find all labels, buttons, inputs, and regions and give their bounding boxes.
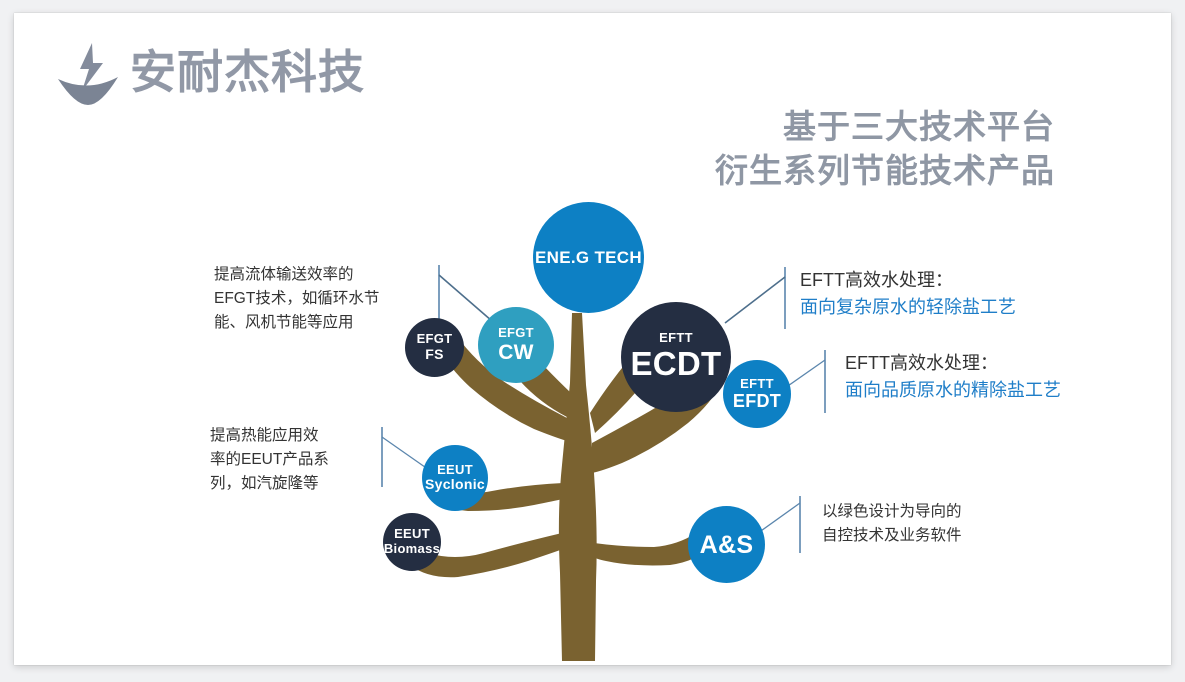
- tech-node-efdt[interactable]: EFTTEFDT: [723, 360, 791, 428]
- tech-node-label: A&S: [700, 531, 754, 559]
- eftt-callout-1-line2: 面向复杂原水的轻除盐工艺: [800, 294, 1016, 321]
- tech-node-sublabel: EFTT: [659, 331, 693, 346]
- eftt-callout-1-line1: EFTT高效水处理：: [800, 267, 1016, 294]
- tech-node-sublabel: EFGT: [498, 326, 534, 341]
- efgt-callout: 提高流体输送效率的 EFGT技术，如循环水节 能、风机节能等应用: [214, 263, 429, 335]
- tech-node-biomass[interactable]: EEUTBiomass: [383, 513, 441, 571]
- tech-node-eneg[interactable]: ENE.G TECH: [533, 202, 644, 313]
- tech-node-label: EFDT: [733, 391, 781, 411]
- eftt-callout-2: EFTT高效水处理：面向品质原水的精除盐工艺: [845, 350, 1061, 404]
- eftt-callout-2-line1: EFTT高效水处理：: [845, 350, 1061, 377]
- as-callout: 以绿色设计为导向的 自控技术及业务软件: [822, 500, 1012, 548]
- tech-node-as[interactable]: A&S: [688, 506, 765, 583]
- slide-canvas: 安耐杰科技 基于三大技术平台 衍生系列节能技术产品: [14, 13, 1171, 665]
- tech-node-label: FS: [425, 347, 444, 363]
- tech-node-sublabel: EEUT: [394, 527, 430, 542]
- tech-node-sublabel: EEUT: [437, 463, 473, 478]
- technology-tree-graphic: [14, 13, 1171, 665]
- tech-node-label: ENE.G TECH: [535, 248, 642, 267]
- tech-node-ecdt[interactable]: EFTTECDT: [621, 302, 731, 412]
- tech-node-syclonic[interactable]: EEUTSyclonic: [422, 445, 488, 511]
- tech-node-sublabel: EFTT: [740, 377, 774, 392]
- eftt-callout-1: EFTT高效水处理：面向复杂原水的轻除盐工艺: [800, 267, 1016, 321]
- tech-node-label: ECDT: [630, 346, 721, 383]
- tech-node-label: Biomass: [384, 542, 440, 557]
- eeut-callout: 提高热能应用效 率的EEUT产品系 列，如汽旋隆等: [210, 424, 370, 496]
- eftt-callout-2-line2: 面向品质原水的精除盐工艺: [845, 377, 1061, 404]
- tech-node-label: Syclonic: [425, 477, 485, 493]
- tech-node-efgt_cw[interactable]: EFGTCW: [478, 307, 554, 383]
- tech-node-label: CW: [498, 341, 534, 365]
